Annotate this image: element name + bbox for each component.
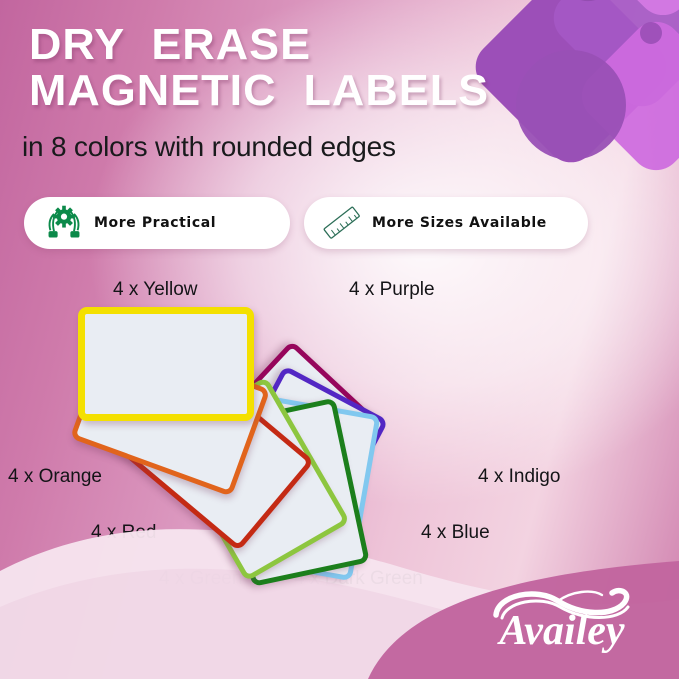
badge-more-practical[interactable]: More Practical bbox=[24, 197, 290, 249]
badge-label: More Sizes Available bbox=[372, 215, 547, 231]
brand-name: Availey bbox=[462, 607, 662, 655]
label-card-yellow[interactable] bbox=[78, 307, 254, 421]
caption-x-purple: 4 x Purple bbox=[349, 279, 435, 301]
page-title: DRY ERASE MAGNETIC LABELS bbox=[29, 22, 489, 114]
hands-holding-gear-icon bbox=[42, 203, 86, 243]
title-line-2: MAGNETIC LABELS bbox=[29, 66, 489, 115]
page-subtitle: in 8 colors with rounded edges bbox=[22, 131, 396, 163]
badge-more-sizes-available[interactable]: More Sizes Available bbox=[304, 197, 588, 249]
caption-x-yellow: 4 x Yellow bbox=[113, 279, 198, 301]
product-poster: DRY ERASE MAGNETIC LABELS in 8 colors wi… bbox=[0, 0, 679, 679]
deco-circle-small bbox=[640, 22, 662, 44]
brand-logo: Availey bbox=[462, 585, 662, 670]
ruler-icon bbox=[320, 203, 364, 243]
deco-circle-large bbox=[516, 50, 626, 160]
title-line-1: DRY ERASE bbox=[29, 20, 311, 69]
badge-label: More Practical bbox=[94, 215, 216, 231]
